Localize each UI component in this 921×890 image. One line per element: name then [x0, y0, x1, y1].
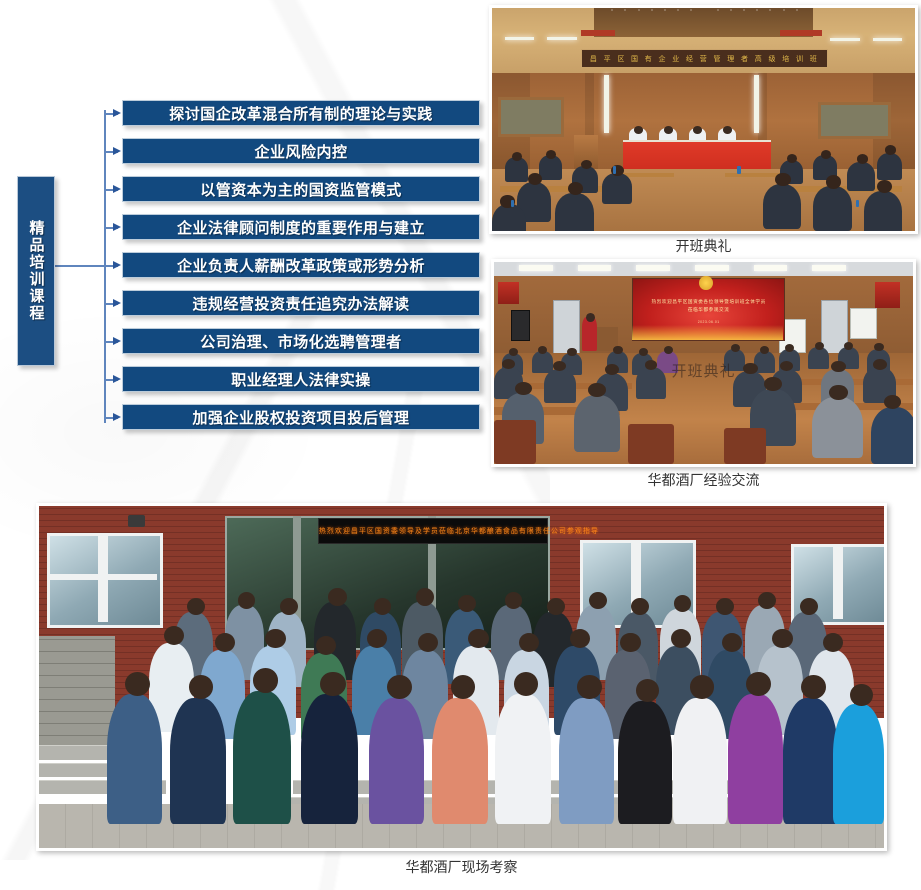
flowchart-node-label-4: 企业法律顾问制度的重要作用与建立 — [177, 217, 425, 238]
photo-huadu-site-visit-caption: 华都酒厂现场考察 — [36, 857, 887, 877]
flowchart-arrow-icon-7 — [113, 337, 121, 345]
flowchart-node-label-3: 以管资本为主的国资监管模式 — [200, 179, 402, 200]
flowchart-arrow-icon-4 — [113, 223, 121, 231]
flowchart-root-label: 精品培训课程 — [18, 177, 54, 365]
flowchart-trunk — [104, 110, 106, 423]
flowchart-node-3[interactable]: 以管资本为主的国资监管模式 — [122, 176, 480, 202]
flowchart-node-2[interactable]: 企业风险内控 — [122, 138, 480, 164]
flowchart-node-label-9: 加强企业股权投资项目投后管理 — [192, 407, 409, 428]
classroom-speaker-head — [586, 313, 595, 322]
flowchart-arrow-icon-9 — [113, 413, 121, 421]
flowchart-stem — [55, 265, 105, 267]
photo-huadu-site-visit[interactable]: 热烈欢迎昌平区国资委领导及学员莅临北京华都酿酒食品有限责任公司参观指导 — [36, 503, 887, 851]
hall-banner-text: 昌 平 区 国 有 企 业 经 营 管 理 者 高 级 培 训 班 — [582, 54, 827, 64]
flowchart-arrow-icon-3 — [113, 185, 121, 193]
flowchart-arrow-icon-8 — [113, 375, 121, 383]
flowchart-node-6[interactable]: 违规经营投资责任追究办法解读 — [122, 290, 480, 316]
flowchart-node-label-7: 公司治理、市场化选聘管理者 — [200, 331, 402, 352]
stone-base-wall — [39, 636, 115, 759]
photo-huadu-exchange[interactable]: 热烈欢迎昌平区国资委各位领导暨培训班全体学员 莅临华都参观交流 2023.06.… — [491, 259, 916, 467]
photo-huadu-exchange-scene: 热烈欢迎昌平区国资委各位领导暨培训班全体学员 莅临华都参观交流 2023.06.… — [494, 262, 913, 464]
flowchart-node-label-2: 企业风险内控 — [254, 141, 347, 162]
screen-glow — [632, 325, 783, 340]
photo-opening-ceremony-scene: 昌 平 区 国 有 企 业 经 营 管 理 者 高 级 培 训 班 — [492, 8, 915, 231]
hall-head-table — [623, 142, 771, 169]
flowchart-arrow-icon-5 — [113, 261, 121, 269]
photo-huadu-site-visit-scene: 热烈欢迎昌平区国资委领导及学员莅临北京华都酿酒食品有限责任公司参观指导 — [39, 506, 884, 848]
flowchart-node-8[interactable]: 职业经理人法律实操 — [122, 366, 480, 392]
flowchart-node-7[interactable]: 公司治理、市场化选聘管理者 — [122, 328, 480, 354]
flowchart-root-node[interactable]: 精品培训课程 — [17, 176, 55, 366]
photo-opening-ceremony-caption: 开班典礼 — [489, 236, 918, 256]
flowchart-node-label-5: 企业负责人薪酬改革政策或形势分析 — [177, 255, 425, 276]
photo-huadu-exchange-caption: 华都酒厂经验交流 — [491, 470, 916, 490]
photo-opening-ceremony[interactable]: 昌 平 区 国 有 企 业 经 营 管 理 者 高 级 培 训 班 — [489, 5, 918, 234]
building-led-banner: 热烈欢迎昌平区国资委领导及学员莅临北京华都酿酒食品有限责任公司参观指导 — [318, 518, 548, 544]
hall-banner: 昌 平 区 国 有 企 业 经 营 管 理 者 高 级 培 训 班 — [581, 49, 828, 68]
building-led-text: 热烈欢迎昌平区国资委领导及学员莅临北京华都酿酒食品有限责任公司参观指导 — [319, 526, 547, 536]
screen-line-2: 莅临华都参观交流 — [633, 307, 784, 313]
flowchart-node-label-6: 违规经营投资责任追究办法解读 — [192, 293, 409, 314]
security-camera-icon — [128, 515, 145, 527]
screen-line-1: 热烈欢迎昌平区国资委各位领导暨培训班全体学员 — [633, 299, 784, 305]
flowchart-arrow-icon-6 — [113, 299, 121, 307]
flowchart-node-label-8: 职业经理人法律实操 — [231, 369, 371, 390]
flowchart-node-4[interactable]: 企业法律顾问制度的重要作用与建立 — [122, 214, 480, 240]
classroom-speaker — [582, 317, 597, 351]
flowchart-node-5[interactable]: 企业负责人薪酬改革政策或形势分析 — [122, 252, 480, 278]
flowchart-node-1[interactable]: 探讨国企改革混合所有制的理论与实践 — [122, 100, 480, 126]
flowchart-node-label-1: 探讨国企改革混合所有制的理论与实践 — [169, 103, 433, 124]
flowchart-node-9[interactable]: 加强企业股权投资项目投后管理 — [122, 404, 480, 430]
flowchart-arrow-icon-2 — [113, 147, 121, 155]
flowchart-arrow-icon-1 — [113, 109, 121, 117]
course-flowchart: 精品培训课程 探讨国企改革混合所有制的理论与实践企业风险内控以管资本为主的国资监… — [0, 0, 490, 460]
slide-canvas: 精品培训课程 探讨国企改革混合所有制的理论与实践企业风险内控以管资本为主的国资监… — [0, 0, 921, 890]
screen-emblem — [699, 276, 712, 290]
